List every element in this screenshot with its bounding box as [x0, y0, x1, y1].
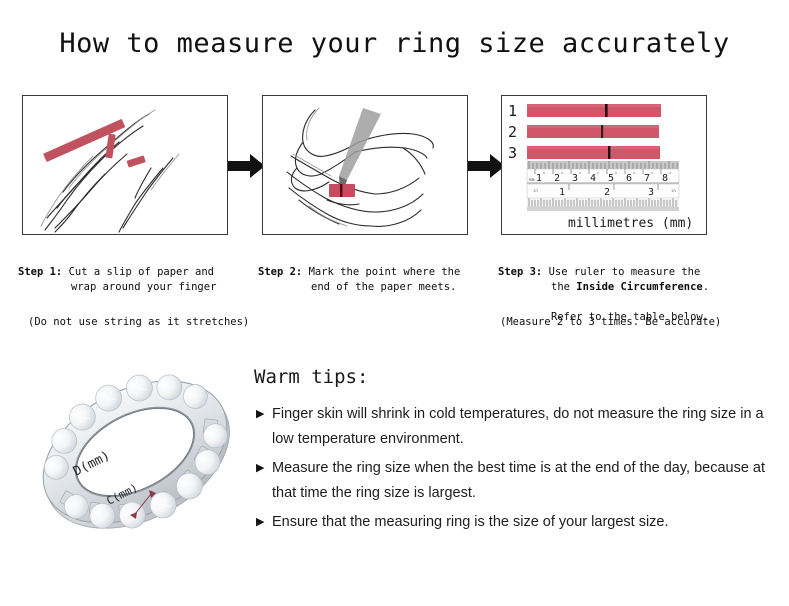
step-1-caption: Step 1: Cut a slip of paper and wrap aro…: [18, 250, 258, 310]
strips-and-ruler-diagram: 1 2 3 mm: [502, 96, 706, 234]
svg-text:4: 4: [590, 173, 596, 184]
page-title: How to measure your ring size accurately: [0, 28, 789, 59]
step-1-label: Step 1:: [18, 266, 62, 278]
triangle-bullet-icon: ▶: [256, 402, 272, 427]
svg-text:3: 3: [572, 173, 578, 184]
svg-text:1: 1: [559, 187, 565, 198]
step-3-label: Step 3:: [498, 266, 542, 278]
strip-label-2: 2: [508, 123, 517, 141]
ring-diagram: D(mm) C(mm): [20, 352, 250, 557]
svg-text:in: in: [671, 188, 676, 193]
step-1-illustration-panel: [22, 95, 228, 235]
svg-text:1: 1: [536, 173, 542, 184]
svg-text:6: 6: [626, 173, 632, 184]
warm-tips-list: ▶ Finger skin will shrink in cold temper…: [256, 402, 768, 539]
tip-text: Finger skin will shrink in cold temperat…: [272, 402, 768, 452]
step-3-note: (Measure 2 to 3 times. Be accurate): [500, 315, 721, 330]
ruler-graphic: mm 1 2 3 4 5 6 7 8: [527, 161, 679, 211]
svg-text:8: 8: [662, 173, 668, 184]
strip-label-3: 3: [508, 144, 517, 162]
triangle-bullet-icon: ▶: [256, 510, 272, 535]
tip-item: ▶ Ensure that the measuring ring is the …: [256, 510, 768, 535]
svg-text:in: in: [533, 188, 538, 193]
step-1-note: (Do not use string as it stretches): [28, 315, 249, 330]
step-3-line2: the Inside Circumference.: [498, 280, 748, 295]
svg-text:7: 7: [644, 173, 650, 184]
step-2-line1: Mark the point where the: [309, 266, 461, 278]
step-2-caption: Step 2: Mark the point where the end of …: [258, 250, 498, 310]
strip-label-1: 1: [508, 102, 517, 120]
warm-tips-heading: Warm tips:: [254, 366, 368, 388]
hand-with-paper-strip-drawing: [23, 96, 227, 234]
tip-text: Ensure that the measuring ring is the si…: [272, 510, 768, 535]
svg-text:3: 3: [648, 187, 654, 198]
step-1-line2: wrap around your finger: [18, 280, 258, 295]
svg-text:5: 5: [608, 173, 614, 184]
step-2-illustration-panel: [262, 95, 468, 235]
ruler-unit-label: millimetres (mm): [568, 216, 693, 231]
step-3-line1: Use ruler to measure the: [549, 266, 701, 278]
step-2-label: Step 2:: [258, 266, 302, 278]
step-3-line2-suffix: .: [703, 281, 709, 293]
tip-item: ▶ Measure the ring size when the best ti…: [256, 456, 768, 506]
step-1-line1: Cut a slip of paper and: [69, 266, 214, 278]
triangle-bullet-icon: ▶: [256, 456, 272, 481]
hand-marking-paper-drawing: [263, 96, 467, 234]
svg-text:mm: mm: [529, 178, 535, 183]
step-3-illustration-panel: 1 2 3 mm: [501, 95, 707, 235]
svg-text:2: 2: [604, 187, 610, 198]
tip-item: ▶ Finger skin will shrink in cold temper…: [256, 402, 768, 452]
step-2-line2: end of the paper meets.: [258, 280, 498, 295]
step-3-line2-prefix: the: [551, 281, 576, 293]
arrow-step1-to-step2-icon: [228, 153, 266, 179]
inside-circumference-emphasis: Inside Circumference: [576, 281, 702, 293]
svg-text:2: 2: [554, 173, 560, 184]
tip-text: Measure the ring size when the best time…: [272, 456, 768, 506]
ring-size-guide-page: How to measure your ring size accurately: [0, 0, 789, 606]
